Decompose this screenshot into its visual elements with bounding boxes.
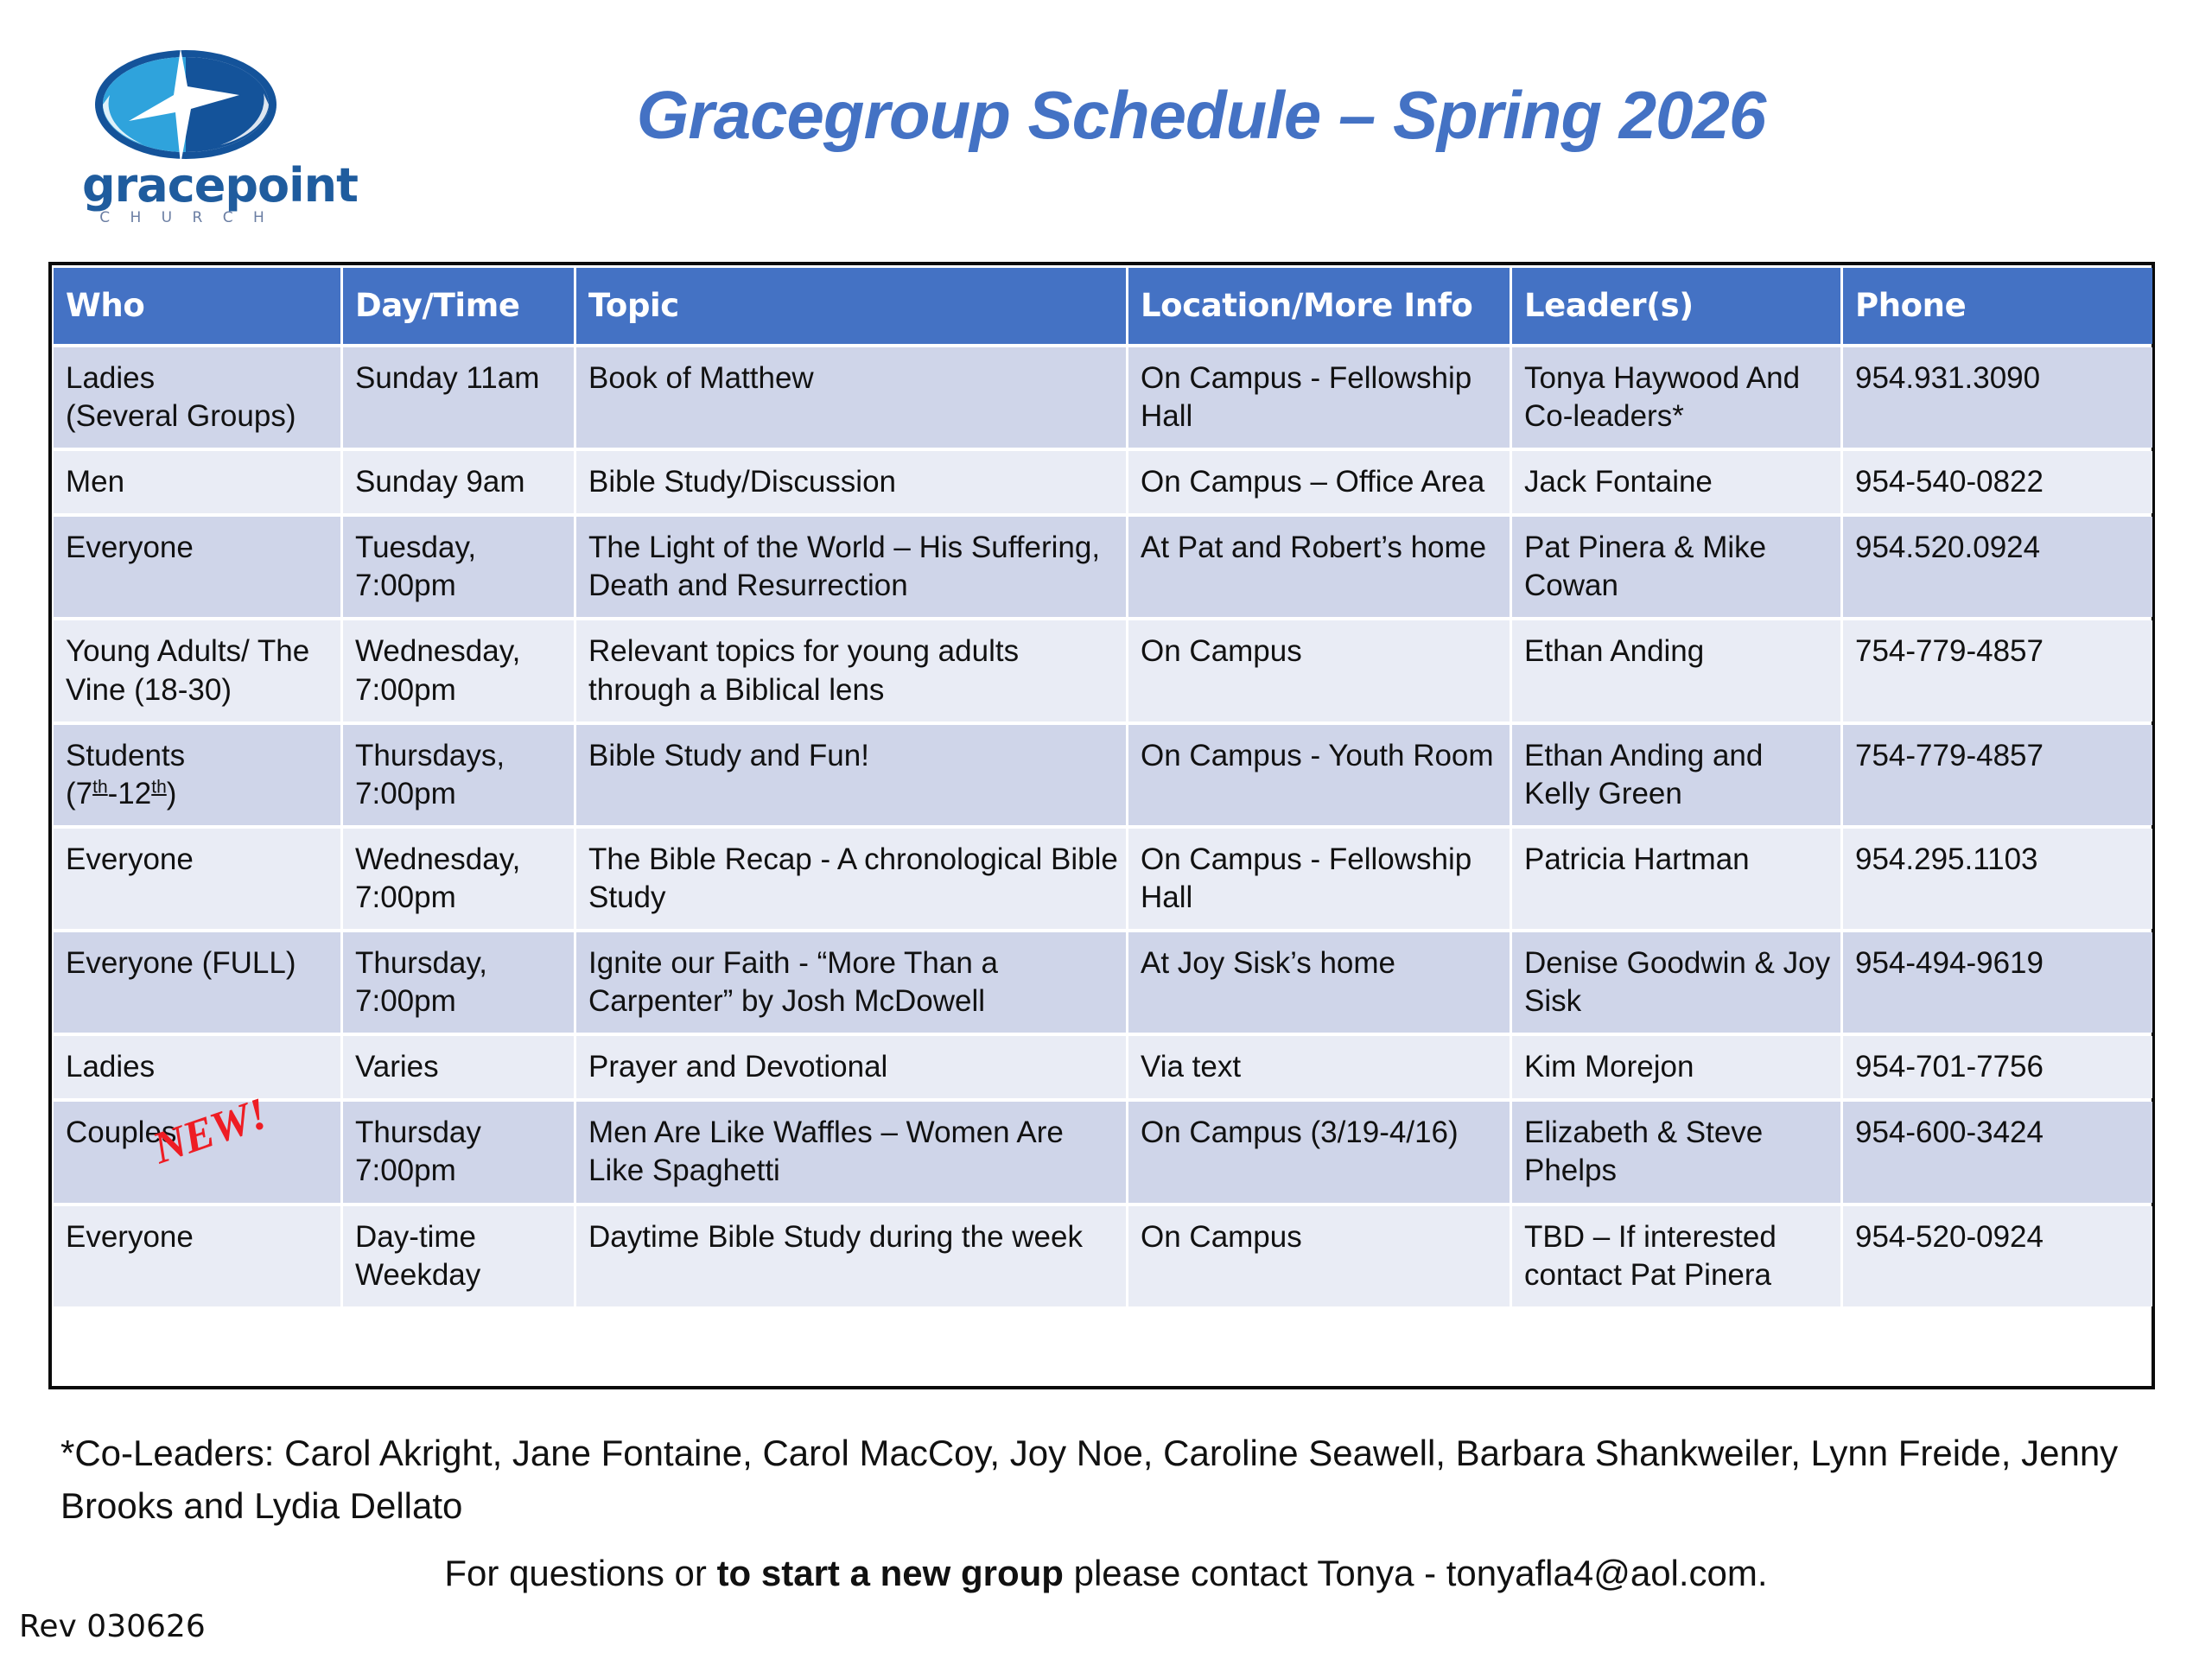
- column-header-topic: Topic: [576, 268, 1126, 344]
- cell-who: Students(7th-12th): [54, 725, 340, 825]
- table-header-row: Who Day/Time Topic Location/More Info Le…: [54, 268, 2152, 344]
- gracegroup-schedule-table: Who Day/Time Topic Location/More Info Le…: [51, 264, 2155, 1310]
- cell-daytime: Thursday, 7:00pm: [343, 932, 574, 1033]
- cell-leaders: Patricia Hartman: [1512, 829, 1840, 929]
- table-row: Students(7th-12th) Thursdays, 7:00pm Bib…: [54, 725, 2152, 825]
- grade-mid: -12: [108, 777, 152, 810]
- gracepoint-swoosh-ellipse-logo: [91, 41, 281, 171]
- cell-who: Men: [54, 451, 340, 513]
- table-row: CouplesNEW! Thursday 7:00pm Men Are Like…: [54, 1102, 2152, 1202]
- page-title: Gracegroup Schedule – Spring 2026: [311, 76, 2091, 155]
- column-header-location: Location/More Info: [1128, 268, 1510, 344]
- cell-leaders: Tonya Haywood And Co-leaders*: [1512, 347, 1840, 448]
- cell-phone: 954.931.3090: [1843, 347, 2152, 448]
- cell-leaders: Jack Fontaine: [1512, 451, 1840, 513]
- cell-daytime: Thursday 7:00pm: [343, 1102, 574, 1202]
- cell-daytime: Day-time Weekday: [343, 1206, 574, 1306]
- cell-topic: Bible Study and Fun!: [576, 725, 1126, 825]
- brand-subtitle: C H U R C H: [82, 211, 289, 226]
- cell-who: Everyone: [54, 517, 340, 617]
- cell-location: On Campus - Youth Room: [1128, 725, 1510, 825]
- contact-emphasis: to start a new group: [717, 1553, 1064, 1593]
- cell-location: At Pat and Robert’s home: [1128, 517, 1510, 617]
- cell-phone: 754-779-4857: [1843, 620, 2152, 721]
- cell-daytime: Sunday 9am: [343, 451, 574, 513]
- who-line-2: (Several Groups): [66, 399, 296, 433]
- cell-phone: 954.295.1103: [1843, 829, 2152, 929]
- cell-leaders: Pat Pinera & Mike Cowan: [1512, 517, 1840, 617]
- cell-who: Everyone: [54, 829, 340, 929]
- cell-daytime: Wednesday, 7:00pm: [343, 620, 574, 721]
- cell-location: On Campus (3/19-4/16): [1128, 1102, 1510, 1202]
- grade-superscript-2: th: [151, 777, 167, 797]
- cell-topic: Bible Study/Discussion: [576, 451, 1126, 513]
- cell-location: On Campus - Fellowship Hall: [1128, 347, 1510, 448]
- cell-topic: Book of Matthew: [576, 347, 1126, 448]
- cell-location: On Campus – Office Area: [1128, 451, 1510, 513]
- cell-daytime: Tuesday, 7:00pm: [343, 517, 574, 617]
- cell-daytime: Varies: [343, 1036, 574, 1098]
- cell-phone: 954-600-3424: [1843, 1102, 2152, 1202]
- column-header-leaders: Leader(s): [1512, 268, 1840, 344]
- cell-phone: 954-701-7756: [1843, 1036, 2152, 1098]
- table-row: Ladies(Several Groups) Sunday 11am Book …: [54, 347, 2152, 448]
- brand-logo: gracepoint C H U R C H: [82, 41, 289, 240]
- table-row: Everyone Tuesday, 7:00pm The Light of th…: [54, 517, 2152, 617]
- grade-close: ): [167, 777, 177, 810]
- cell-topic: Daytime Bible Study during the week: [576, 1206, 1126, 1306]
- cell-leaders: Ethan Anding: [1512, 620, 1840, 721]
- cell-daytime: Sunday 11am: [343, 347, 574, 448]
- revision-label: Rev 030626: [19, 1609, 206, 1644]
- contact-pre: For questions or: [444, 1553, 716, 1593]
- table-row: Everyone Day-time Weekday Daytime Bible …: [54, 1206, 2152, 1306]
- cell-who: Ladies(Several Groups): [54, 347, 340, 448]
- column-header-who: Who: [54, 268, 340, 344]
- cell-topic: The Light of the World – His Suffering, …: [576, 517, 1126, 617]
- cell-daytime: Thursdays, 7:00pm: [343, 725, 574, 825]
- table-row: Men Sunday 9am Bible Study/Discussion On…: [54, 451, 2152, 513]
- column-header-phone: Phone: [1843, 268, 2152, 344]
- table-row: Everyone (FULL) Thursday, 7:00pm Ignite …: [54, 932, 2152, 1033]
- grade-superscript-1: th: [92, 777, 108, 797]
- grade-open: (7: [66, 777, 92, 810]
- table-row: Ladies Varies Prayer and Devotional Via …: [54, 1036, 2152, 1098]
- cell-topic: Prayer and Devotional: [576, 1036, 1126, 1098]
- table-row: Young Adults/ The Vine (18-30) Wednesday…: [54, 620, 2152, 721]
- cell-phone: 754-779-4857: [1843, 725, 2152, 825]
- cell-location: Via text: [1128, 1036, 1510, 1098]
- who-line-1: Students: [66, 739, 185, 772]
- cell-daytime: Wednesday, 7:00pm: [343, 829, 574, 929]
- cell-location: On Campus: [1128, 1206, 1510, 1306]
- cell-leaders: Denise Goodwin & Joy Sisk: [1512, 932, 1840, 1033]
- cell-phone: 954-540-0822: [1843, 451, 2152, 513]
- contact-post: please contact Tonya - tonyafla4@aol.com…: [1064, 1553, 1768, 1593]
- contact-line: For questions or to start a new group pl…: [0, 1553, 2212, 1594]
- cell-who: Everyone: [54, 1206, 340, 1306]
- cell-leaders: Ethan Anding and Kelly Green: [1512, 725, 1840, 825]
- brand-wordmark: gracepoint: [82, 162, 289, 209]
- cell-who: CouplesNEW!: [54, 1102, 340, 1202]
- cell-topic: Men Are Like Waffles – Women Are Like Sp…: [576, 1102, 1126, 1202]
- cell-location: At Joy Sisk’s home: [1128, 932, 1510, 1033]
- cell-who: Ladies: [54, 1036, 340, 1098]
- new-badge: NEW!: [146, 1086, 275, 1178]
- cell-phone: 954-494-9619: [1843, 932, 2152, 1033]
- cell-who: Young Adults/ The Vine (18-30): [54, 620, 340, 721]
- cell-leaders: Elizabeth & Steve Phelps: [1512, 1102, 1840, 1202]
- cell-phone: 954-520-0924: [1843, 1206, 2152, 1306]
- cell-phone: 954.520.0924: [1843, 517, 2152, 617]
- who-line-1: Ladies: [66, 361, 155, 395]
- cell-topic: Ignite our Faith - “More Than a Carpente…: [576, 932, 1126, 1033]
- schedule-table-container: Who Day/Time Topic Location/More Info Le…: [48, 262, 2155, 1389]
- coleaders-note: *Co-Leaders: Carol Akright, Jane Fontain…: [60, 1427, 2177, 1533]
- table-row: Everyone Wednesday, 7:00pm The Bible Rec…: [54, 829, 2152, 929]
- cell-who: Everyone (FULL): [54, 932, 340, 1033]
- cell-leaders: Kim Morejon: [1512, 1036, 1840, 1098]
- column-header-daytime: Day/Time: [343, 268, 574, 344]
- cell-topic: The Bible Recap - A chronological Bible …: [576, 829, 1126, 929]
- cell-leaders: TBD – If interested contact Pat Pinera: [1512, 1206, 1840, 1306]
- cell-location: On Campus: [1128, 620, 1510, 721]
- cell-location: On Campus - Fellowship Hall: [1128, 829, 1510, 929]
- cell-topic: Relevant topics for young adults through…: [576, 620, 1126, 721]
